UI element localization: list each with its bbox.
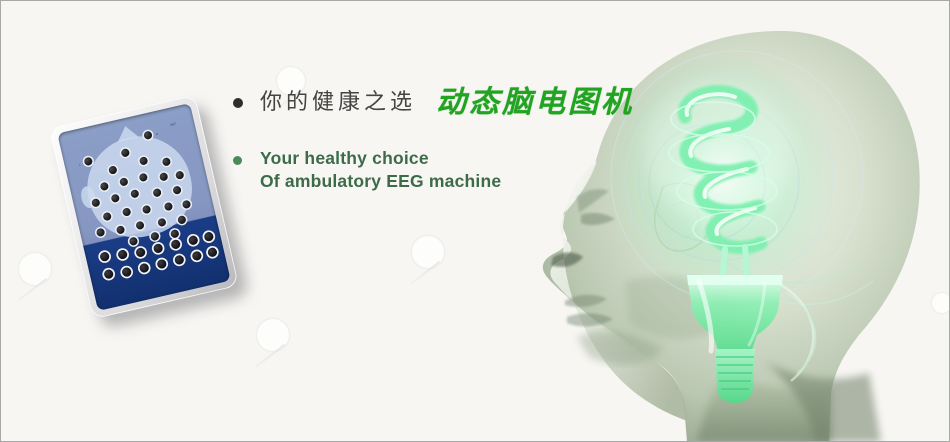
- english-line-2: Of ambulatory EEG machine: [260, 170, 501, 193]
- electrode-socket: [129, 236, 139, 246]
- decorative-bubble: [412, 236, 452, 296]
- headline-row: 你的健康之选 动态脑电图机: [233, 81, 653, 125]
- bullet-icon: [233, 98, 243, 108]
- electrode-socket: [177, 215, 187, 225]
- connector-jack: [103, 269, 114, 280]
- head-with-bulb-artwork: [529, 1, 949, 442]
- english-lines: Your healthy choice Of ambulatory EEG ma…: [260, 147, 501, 193]
- connector-jack: [117, 249, 128, 260]
- connector-jack: [139, 263, 150, 274]
- subhead-row: Your healthy choice Of ambulatory EEG ma…: [233, 147, 653, 193]
- headline-chinese: 你的健康之选: [260, 81, 416, 125]
- connector-jack: [99, 251, 110, 262]
- connector-jack: [191, 250, 202, 261]
- decorative-bubble: [257, 319, 297, 379]
- product-name-chinese: 动态脑电图机: [436, 81, 634, 125]
- connector-jack: [203, 231, 214, 242]
- connector-jack: [188, 235, 199, 246]
- electrode-socket: [170, 229, 180, 239]
- decorative-bubble: [19, 253, 59, 313]
- connector-jack: [121, 267, 132, 278]
- connector-jack: [153, 243, 164, 254]
- copy-block: 你的健康之选 动态脑电图机 Your healthy choice Of amb…: [233, 81, 653, 193]
- connector-jack: [170, 239, 181, 250]
- panel-label-right: R: [156, 133, 159, 136]
- eeg-device: L R REF: [49, 95, 239, 320]
- connector-jack: [135, 247, 146, 258]
- connector-jack: [156, 259, 167, 270]
- panel-label-ref: REF: [170, 123, 177, 127]
- panel-label-left: L: [79, 163, 81, 166]
- connector-jack: [174, 255, 185, 266]
- electrode-socket: [96, 228, 106, 238]
- promo-banner: L R REF: [0, 0, 950, 442]
- connector-jack: [207, 247, 218, 258]
- english-line-1: Your healthy choice: [260, 147, 501, 170]
- bullet-icon: [233, 156, 242, 165]
